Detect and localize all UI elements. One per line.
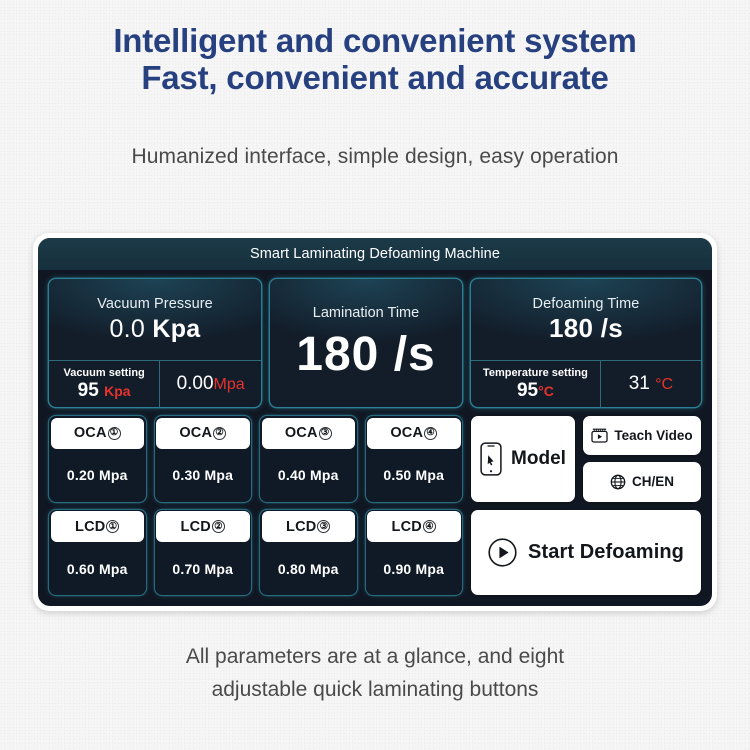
teach-video-label: Teach Video (614, 428, 692, 443)
play-circle-icon (488, 538, 517, 567)
preset-button-lcd-1[interactable]: LCD① 0.60 Mpa (49, 510, 146, 596)
temperature-setting-cell[interactable]: Temperature setting 95°C (471, 361, 600, 407)
device-screen: Smart Laminating Defoaming Machine Vacuu… (38, 238, 712, 606)
preset-oca-2-pressure: 0.30 Mpa (155, 449, 252, 502)
preset-lcd-2-name: LCD (181, 519, 211, 535)
lamination-time-value: 180 (296, 328, 379, 381)
preset-button-oca-2[interactable]: OCA② 0.30 Mpa (155, 416, 252, 502)
preset-button-lcd-2[interactable]: LCD② 0.70 Mpa (155, 510, 252, 596)
screen-title: Smart Laminating Defoaming Machine (250, 246, 500, 262)
preset-button-oca-3[interactable]: OCA③ 0.40 Mpa (260, 416, 357, 502)
preset-oca-3-index: ③ (319, 427, 332, 440)
preset-lcd-4-index: ④ (423, 520, 436, 533)
preset-lcd-1-pressure: 0.60 Mpa (49, 542, 146, 595)
caption-line-2: adjustable quick laminating buttons (0, 673, 750, 706)
preset-button-oca-4[interactable]: OCA④ 0.50 Mpa (366, 416, 463, 502)
preset-oca-2-index: ② (213, 427, 226, 440)
preset-lcd-1-name: LCD (75, 519, 105, 535)
vacuum-pressure-label: Vacuum Pressure (97, 296, 213, 312)
preset-oca-3-name: OCA (285, 425, 318, 441)
preset-lcd-4-name: LCD (392, 519, 422, 535)
screen-titlebar: Smart Laminating Defoaming Machine (38, 238, 712, 270)
action-top-row: Model (471, 416, 701, 502)
vacuum-pressure-value: 0.0 (109, 315, 145, 343)
lamination-time-label: Lamination Time (313, 305, 419, 321)
vacuum-secondary-unit: Mpa (214, 376, 245, 393)
readouts-row: Vacuum Pressure 0.0 Kpa Vacuum setting 9… (49, 279, 701, 407)
preset-lcd-1-index: ① (106, 520, 119, 533)
preset-lcd-3-name: LCD (286, 519, 316, 535)
preset-grid: OCA① 0.20 Mpa OCA② 0.30 Mpa (49, 416, 462, 595)
preset-oca-2-name: OCA (179, 425, 212, 441)
phone-icon (480, 442, 502, 476)
device-bezel: Smart Laminating Defoaming Machine Vacuu… (33, 233, 717, 611)
preset-lcd-3-index: ③ (317, 520, 330, 533)
defoaming-sub-row: Temperature setting 95°C 31 °C (471, 360, 701, 407)
preset-oca-1-title[interactable]: OCA① (51, 418, 145, 449)
start-defoaming-button[interactable]: Start Defoaming (471, 510, 701, 596)
preset-lcd-2-title[interactable]: LCD② (156, 511, 250, 542)
defoaming-time-value: 180 (549, 313, 593, 343)
defoaming-time-unit: /s (601, 313, 623, 343)
model-button[interactable]: Model (471, 416, 575, 502)
defoaming-time-card[interactable]: Defoaming Time 180 /s Temperature settin… (471, 279, 701, 407)
video-icon (591, 428, 608, 443)
preset-lcd-4-title[interactable]: LCD④ (367, 511, 461, 542)
temperature-current-cell[interactable]: 31 °C (600, 361, 701, 407)
preset-oca-4-title[interactable]: OCA④ (367, 418, 461, 449)
model-button-label: Model (511, 448, 566, 470)
lamination-time-unit: /s (394, 328, 436, 381)
defoaming-time-label: Defoaming Time (533, 296, 640, 312)
preset-oca-3-title[interactable]: OCA③ (262, 418, 356, 449)
temperature-setting-unit: °C (538, 383, 554, 399)
teach-video-button[interactable]: Teach Video (583, 416, 701, 455)
screen-body: Vacuum Pressure 0.0 Kpa Vacuum setting 9… (38, 270, 712, 606)
temperature-setting-value-group: 95°C (517, 381, 554, 401)
preset-button-lcd-4[interactable]: LCD④ 0.90 Mpa (366, 510, 463, 596)
page-root: Intelligent and convenient system Fast, … (0, 0, 750, 750)
lamination-time-value-group: 180 /s (296, 327, 435, 382)
preset-lcd-2-pressure: 0.70 Mpa (155, 542, 252, 595)
preset-oca-4-pressure: 0.50 Mpa (366, 449, 463, 502)
lamination-time-main: Lamination Time 180 /s (270, 279, 462, 407)
preset-oca-3-pressure: 0.40 Mpa (260, 449, 357, 502)
preset-oca-1-index: ① (108, 427, 121, 440)
action-panel: Model (471, 416, 701, 595)
temperature-current-group: 31 °C (629, 373, 673, 395)
preset-oca-4-name: OCA (390, 425, 423, 441)
preset-button-oca-1[interactable]: OCA① 0.20 Mpa (49, 416, 146, 502)
temperature-setting-label: Temperature setting (483, 367, 588, 380)
vacuum-pressure-main: Vacuum Pressure 0.0 Kpa (49, 279, 261, 360)
vacuum-sub-row: Vacuum setting 95 Kpa 0.00Mpa (49, 360, 261, 407)
preset-oca-1-name: OCA (74, 425, 107, 441)
lamination-time-card[interactable]: Lamination Time 180 /s (270, 279, 462, 407)
vacuum-pressure-value-group: 0.0 Kpa (109, 315, 200, 344)
preset-oca-1-pressure: 0.20 Mpa (49, 449, 146, 502)
globe-icon (610, 474, 626, 490)
language-button[interactable]: CH/EN (583, 462, 701, 501)
preset-lcd-2-index: ② (212, 520, 225, 533)
headline-line-2: Fast, convenient and accurate (0, 59, 750, 96)
preset-row-lcd: LCD① 0.60 Mpa LCD② 0.70 Mpa (49, 510, 462, 596)
preset-lcd-1-title[interactable]: LCD① (51, 511, 145, 542)
defoaming-time-main: Defoaming Time 180 /s (471, 279, 701, 360)
temperature-current-value: 31 (629, 373, 650, 394)
page-headline: Intelligent and convenient system Fast, … (0, 22, 750, 96)
preset-lcd-4-pressure: 0.90 Mpa (366, 542, 463, 595)
preset-oca-2-title[interactable]: OCA② (156, 418, 250, 449)
preset-lcd-3-pressure: 0.80 Mpa (260, 542, 357, 595)
vacuum-setting-unit: Kpa (104, 383, 130, 399)
vacuum-secondary-group: 0.00Mpa (177, 373, 245, 395)
vacuum-pressure-card[interactable]: Vacuum Pressure 0.0 Kpa Vacuum setting 9… (49, 279, 261, 407)
vacuum-setting-label: Vacuum setting (63, 367, 144, 380)
vacuum-secondary-cell[interactable]: 0.00Mpa (159, 361, 261, 407)
vacuum-secondary-value: 0.00 (177, 373, 214, 394)
temperature-current-unit: °C (655, 376, 673, 393)
caption-line-1: All parameters are at a glance, and eigh… (186, 645, 564, 668)
vacuum-setting-value-group: 95 Kpa (78, 381, 131, 401)
preset-oca-4-index: ④ (424, 427, 437, 440)
vacuum-setting-cell[interactable]: Vacuum setting 95 Kpa (49, 361, 159, 407)
headline-line-1: Intelligent and convenient system (113, 22, 636, 59)
vacuum-setting-value: 95 (78, 380, 99, 401)
page-subheading: Humanized interface, simple design, easy… (0, 145, 750, 169)
vacuum-pressure-unit: Kpa (152, 315, 200, 343)
action-stack: Teach Video (583, 416, 701, 502)
start-defoaming-label: Start Defoaming (528, 541, 684, 564)
temperature-setting-value: 95 (517, 380, 538, 401)
preset-lcd-3-title[interactable]: LCD③ (262, 511, 356, 542)
controls-area: OCA① 0.20 Mpa OCA② 0.30 Mpa (49, 416, 701, 595)
page-caption: All parameters are at a glance, and eigh… (0, 640, 750, 706)
preset-button-lcd-3[interactable]: LCD③ 0.80 Mpa (260, 510, 357, 596)
preset-row-oca: OCA① 0.20 Mpa OCA② 0.30 Mpa (49, 416, 462, 502)
language-label: CH/EN (632, 474, 674, 489)
defoaming-time-value-group: 180 /s (549, 313, 623, 344)
